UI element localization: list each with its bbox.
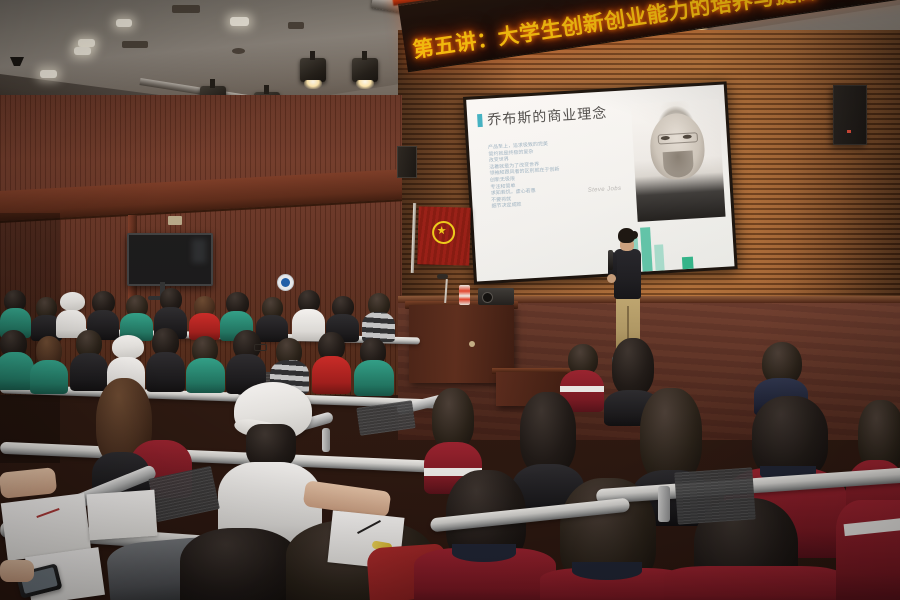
star-icon — [437, 226, 446, 235]
water-bottle — [459, 285, 470, 305]
left-wall-trim — [0, 169, 402, 223]
tv-wall-mount — [168, 216, 182, 225]
communist-youth-league-flag — [417, 206, 471, 265]
audience-head — [432, 388, 474, 450]
audience-body — [354, 360, 394, 396]
ceiling-vent — [232, 48, 245, 54]
audience-head — [612, 338, 654, 396]
projector-lens — [482, 292, 493, 303]
steve-jobs-portrait — [631, 99, 726, 222]
portrait-beard — [663, 150, 694, 178]
screen-glare — [192, 239, 206, 263]
student-arm — [0, 467, 57, 499]
slide-accent-bar — [477, 114, 483, 127]
projector — [478, 288, 514, 305]
student-hand — [0, 560, 34, 582]
audience-body — [0, 352, 34, 390]
microphone-icon — [437, 274, 448, 279]
stage-spotlight — [300, 58, 326, 82]
audience-body — [362, 312, 395, 342]
podium-knob[interactable] — [469, 341, 475, 347]
audience-body — [186, 358, 225, 393]
portrait-caption: Steve Jobs — [588, 186, 622, 194]
armrest-post — [658, 486, 670, 522]
flag-emblem — [432, 221, 456, 245]
stage-spotlight — [352, 58, 378, 82]
wall-speaker-left — [397, 146, 417, 178]
emblem-inner — [281, 278, 290, 287]
wall-speaker-right — [833, 85, 867, 145]
ceiling-vent — [172, 5, 200, 13]
white-cap — [60, 292, 85, 311]
portrait-face — [648, 112, 706, 181]
ceiling-downlight — [40, 70, 57, 78]
institution-emblem — [277, 274, 294, 291]
speaker-led-indicator — [847, 130, 851, 133]
audience-body — [146, 352, 185, 392]
audience-body — [312, 356, 351, 394]
presenter-torso — [614, 249, 641, 299]
ceiling-downlight — [116, 19, 132, 27]
ceiling-downlight — [230, 17, 249, 26]
notebook-page — [86, 490, 157, 541]
audience-body — [30, 360, 68, 394]
audience-body — [664, 566, 844, 600]
projection-screen: 乔布斯的商业理念 产品至上，追求极致的完美 简约就是终极的复杂 改变世界 活着就… — [463, 81, 738, 284]
uniform-stripe — [560, 386, 604, 392]
white-cap — [112, 335, 144, 359]
wall-mounted-display[interactable] — [127, 233, 213, 286]
presentation-slide: 乔布斯的商业理念 产品至上，追求极致的完美 简约就是终极的复杂 改变世界 活着就… — [466, 85, 734, 282]
ceiling-vent — [122, 41, 148, 48]
lecture-hall-photo: 第五讲：大学生创新创业能力的培养与提高——李建伟老师 乔布斯的商业理念 产品至上… — [0, 0, 900, 600]
presenter-hand — [607, 274, 616, 283]
chart-bar — [682, 257, 694, 270]
audience-head — [180, 528, 300, 600]
seat-back-mesh — [674, 467, 755, 524]
audience-body — [836, 500, 900, 600]
ceiling-downlight — [78, 39, 95, 47]
slide-bullet-list: 产品至上，追求极致的完美 简约就是终极的复杂 改变世界 活着就是为了改变世界 领… — [488, 138, 602, 210]
uniform-collar — [572, 562, 642, 580]
presenter-hair-bun — [631, 231, 638, 239]
uniform-collar — [452, 544, 516, 562]
chart-bar — [654, 244, 665, 270]
armrest-post — [322, 428, 330, 452]
slide-title: 乔布斯的商业理念 — [487, 102, 608, 129]
ceiling-downlight — [74, 47, 91, 55]
audience-body — [70, 353, 108, 391]
chart-bar — [640, 227, 653, 272]
ceiling-vent — [288, 22, 304, 29]
handheld-microphone — [608, 250, 613, 270]
eyeglasses-icon — [254, 344, 267, 351]
